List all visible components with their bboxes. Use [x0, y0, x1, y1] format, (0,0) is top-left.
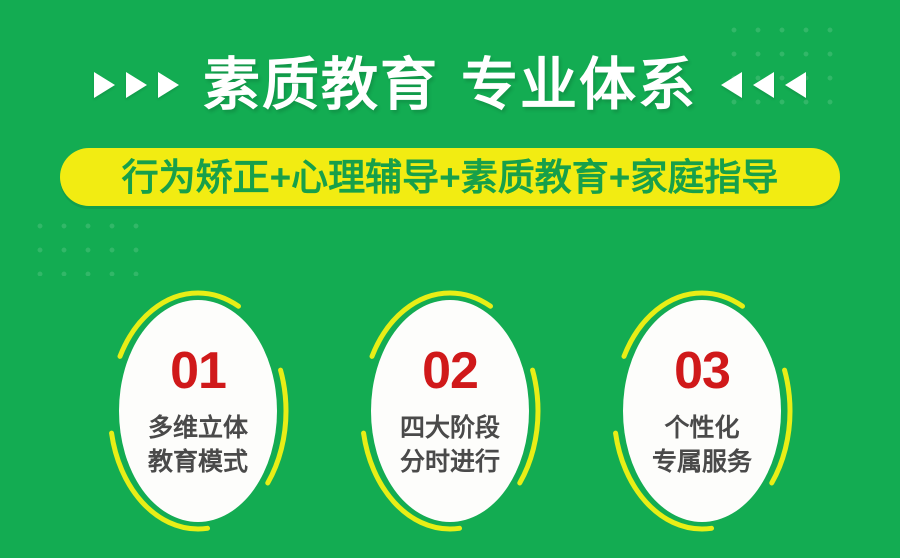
play-arrow-left-icon — [753, 72, 774, 98]
feature-caption-line2: 分时进行 — [400, 445, 500, 480]
feature-number: 01 — [170, 345, 226, 397]
headline-part-2: 专业体系 — [461, 53, 697, 117]
headline-text: 素质教育专业体系 — [203, 57, 697, 114]
feature-caption-line2: 教育模式 — [148, 445, 248, 480]
feature-bubble: 02 四大阶段 分时进行 — [371, 300, 529, 522]
play-arrow-right-icon — [94, 72, 115, 98]
services-pill: 行为矫正+心理辅导+素质教育+家庭指导 — [60, 148, 840, 206]
left-arrows-group — [94, 72, 179, 98]
feature-number: 03 — [674, 345, 730, 397]
feature-caption-line1: 四大阶段 — [400, 411, 500, 446]
feature-caption-line2: 专属服务 — [652, 445, 752, 480]
feature-number: 02 — [422, 345, 478, 397]
headline-row: 素质教育专业体系 — [0, 46, 900, 124]
feature-card: 02 四大阶段 分时进行 — [355, 286, 545, 536]
feature-caption-line1: 多维立体 — [148, 411, 248, 446]
play-arrow-right-icon — [126, 72, 147, 98]
dot-pattern-mid-left — [28, 214, 152, 276]
feature-card: 03 个性化 专属服务 — [607, 286, 797, 536]
feature-caption-line1: 个性化 — [664, 411, 739, 446]
headline-part-1: 素质教育 — [203, 53, 439, 117]
feature-card: 01 多维立体 教育模式 — [103, 286, 293, 536]
feature-bubble: 03 个性化 专属服务 — [623, 300, 781, 522]
play-arrow-right-icon — [158, 72, 179, 98]
feature-cards: 01 多维立体 教育模式 02 四大阶段 分时进行 03 个性化 专属服务 — [0, 286, 900, 538]
services-pill-text: 行为矫正+心理辅导+素质教育+家庭指导 — [122, 159, 779, 196]
promo-banner: 素质教育专业体系 行为矫正+心理辅导+素质教育+家庭指导 01 多维立体 教育模… — [0, 0, 900, 558]
play-arrow-left-icon — [785, 72, 806, 98]
play-arrow-left-icon — [721, 72, 742, 98]
right-arrows-group — [721, 72, 806, 98]
feature-bubble: 01 多维立体 教育模式 — [119, 300, 277, 522]
